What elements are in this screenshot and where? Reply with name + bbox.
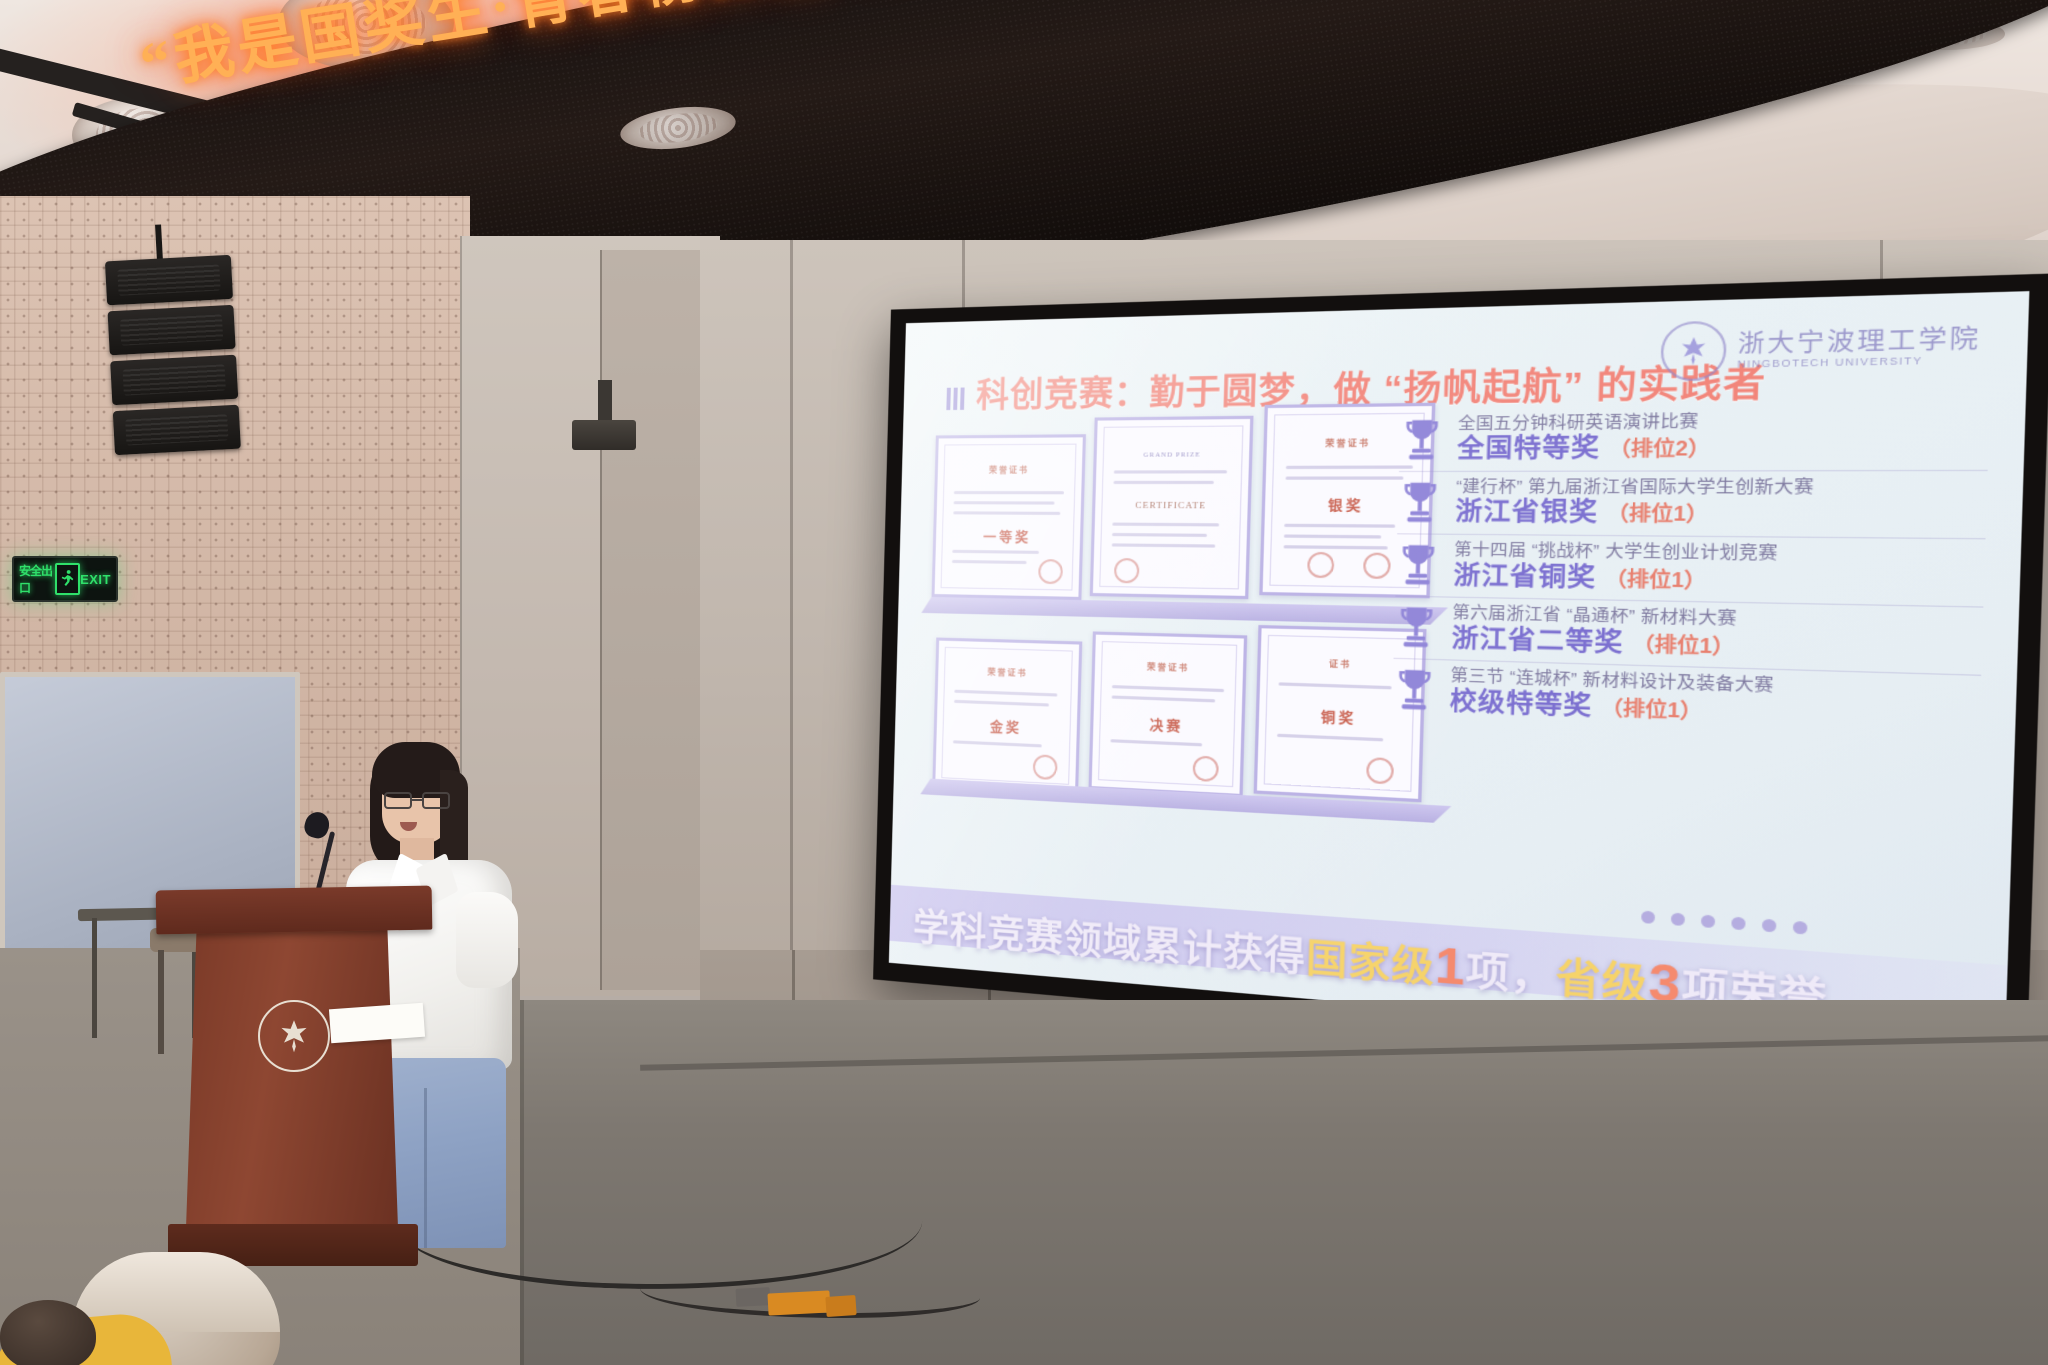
university-crest-icon (258, 1000, 330, 1072)
glasses-icon (382, 792, 454, 809)
award-result: 浙江省铜奖（排位1） (1453, 560, 1777, 595)
award-rank: （排位1） (1604, 567, 1706, 591)
award-rank: （排位1） (1601, 696, 1703, 722)
award-result: 全国特等奖（排位2） (1457, 432, 1711, 463)
award-text-block: 全国五分钟科研英语演讲比赛 全国特等奖（排位2） (1457, 412, 1712, 463)
chair-leg (158, 950, 164, 1054)
cable-tape (767, 1290, 830, 1315)
certificate-title: 荣誉证书 (987, 666, 1027, 679)
speech-notes (329, 1003, 425, 1043)
certificate-shelf (921, 597, 1448, 625)
award-rank: （排位1） (1606, 503, 1708, 526)
certificate-award: 金奖 (990, 715, 1023, 736)
award-text-block: “建行杯” 第九届浙江省国际大学生创新大赛 浙江省银奖（排位1） (1455, 477, 1814, 528)
table-leg (92, 918, 97, 1038)
award-competition: 全国五分钟科研英语演讲比赛 (1458, 412, 1712, 434)
exit-sign-label-cn: 安全出口 (19, 562, 55, 596)
ceiling-vent (1170, 0, 1290, 36)
ceiling-speaker-array (105, 255, 241, 459)
summary-level1-label: 国家级 (1305, 936, 1435, 991)
certificate-image: 荣誉证书 决赛 (1089, 631, 1248, 797)
award-list-item: 全国五分钟科研英语演讲比赛 全国特等奖（排位2） (1399, 403, 1990, 472)
award-text-block: 第十四届 “挑战杯” 大学生创业计划竞赛 浙江省铜奖（排位1） (1453, 540, 1778, 594)
certificate-award: 铜奖 (1321, 705, 1357, 727)
podium-top (156, 886, 433, 935)
award-list-item: 第十四届 “挑战杯” 大学生创业计划竞赛 浙江省铜奖（排位1） (1395, 534, 1985, 607)
podium-body (186, 928, 398, 1228)
award-list: 全国五分钟科研英语演讲比赛 全国特等奖（排位2） (1392, 403, 1990, 744)
certificate-image: 荣誉证书 一等奖 (932, 434, 1086, 600)
projector-body (572, 420, 636, 450)
trophy-icon (1392, 666, 1437, 713)
certificate-award: 银奖 (1328, 494, 1365, 515)
certificate-image: GRAND PRIZE CERTIFICATE (1090, 416, 1254, 599)
presentation-slide: 科创竞赛：勤于圆梦，做 “扬帆起航” 的实践者 浙大宁波理工学院 NINGBOT… (889, 291, 2030, 1059)
award-text-block: 第三节 “连城杯” 新材料设计及装备大赛 校级特等奖（排位1） (1449, 666, 1774, 727)
award-list-item: “建行杯” 第九届浙江省国际大学生创新大赛 浙江省银奖（排位1） (1397, 471, 1988, 539)
award-rank: （排位1） (1632, 632, 1735, 657)
award-prize: 浙江省银奖 (1455, 497, 1599, 527)
award-result: 浙江省银奖（排位1） (1455, 497, 1814, 529)
auditorium-scene: “我是国奖生·青春榜样说”2025年浙江省国家奖学金获奖宣讲 安全出口 (0, 0, 2048, 1365)
trophy-icon (1399, 416, 1444, 462)
certificate-award: 一等奖 (983, 526, 1032, 546)
trophy-icon (1396, 541, 1441, 588)
speaker-module (105, 255, 233, 306)
projection-screen-frame: 科创竞赛：勤于圆梦，做 “扬帆起航” 的实践者 浙大宁波理工学院 NINGBOT… (873, 274, 2048, 1083)
more-items-indicator (1641, 911, 1807, 935)
speaker-module (108, 305, 236, 356)
certificate-title: 证书 (1329, 658, 1352, 671)
cable-tape (825, 1295, 856, 1317)
certificate-title: 荣誉证书 (1147, 661, 1190, 674)
certificate-title: 荣誉证书 (989, 464, 1029, 475)
award-prize: 全国特等奖 (1457, 433, 1601, 463)
audience-head (0, 1300, 96, 1365)
university-name-block: 浙大宁波理工学院 NINGBOTECH UNIVERSITY (1737, 325, 1981, 370)
projector-mount (598, 380, 612, 424)
summary-level1-count: 1 (1434, 936, 1467, 996)
speaker-module (110, 355, 238, 406)
award-competition: “建行杯” 第九届浙江省国际大学生创新大赛 (1456, 477, 1814, 497)
certificate-award: 决赛 (1149, 714, 1183, 735)
trophy-icon (1397, 479, 1442, 525)
certificate-title: 荣誉证书 (1325, 437, 1370, 449)
university-logo: 浙大宁波理工学院 NINGBOTECH UNIVERSITY (1660, 314, 1982, 381)
award-result: 浙江省二等奖（排位1） (1451, 623, 1736, 660)
lectern-podium (168, 888, 420, 1300)
certificate-title: GRAND PRIZE (1144, 451, 1201, 459)
trophy-icon (1394, 603, 1439, 650)
award-text-block: 第六届浙江省 “晶通杯” 新材料大赛 浙江省二等奖（排位1） (1451, 603, 1737, 659)
certificate-image: 荣誉证书 金奖 (932, 637, 1082, 794)
sleeve (456, 892, 518, 988)
award-prize: 浙江省铜奖 (1453, 560, 1597, 591)
cable-cover (736, 1287, 771, 1307)
emergency-exit-sign: 安全出口 EXIT (12, 556, 118, 602)
exit-sign-label-en: EXIT (80, 572, 111, 587)
ningbotech-crest-icon (1660, 320, 1727, 381)
summary-level1-unit: 项， (1465, 948, 1556, 1001)
ceiling-vent (1885, 18, 2005, 50)
wall-panel-seam (790, 240, 793, 1000)
award-prize: 浙江省二等奖 (1451, 623, 1624, 656)
title-bullet-icon (946, 387, 966, 410)
award-prize: 校级特等奖 (1449, 685, 1592, 719)
running-person-exit-icon (55, 563, 80, 595)
certificate-award: CERTIFICATE (1135, 500, 1206, 511)
speaker-module (113, 405, 241, 456)
award-rank: （排位2） (1608, 437, 1711, 460)
